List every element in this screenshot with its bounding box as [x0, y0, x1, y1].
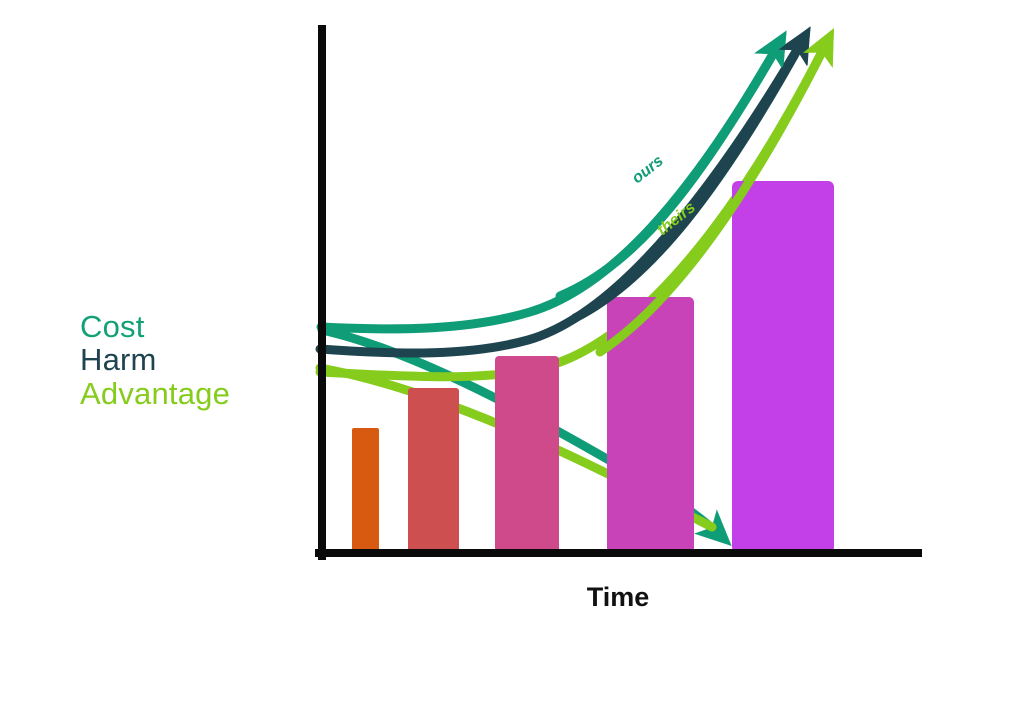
bar-5	[732, 181, 834, 553]
bar-2	[408, 388, 459, 553]
growth-chart-figure: Cost Harm Advantage	[0, 0, 1024, 711]
legend-item-harm: Harm	[80, 342, 157, 377]
curve-annotations: ours theirs	[629, 152, 699, 239]
legend-item-advantage: Advantage	[80, 376, 230, 411]
x-axis-title: Time	[587, 582, 650, 612]
bar-3	[495, 356, 559, 553]
curve-label-ours: ours	[629, 152, 667, 187]
legend: Cost Harm Advantage	[80, 309, 230, 411]
harm-rising-curve	[320, 38, 804, 353]
chart-canvas: Cost Harm Advantage	[0, 0, 1024, 711]
legend-item-cost: Cost	[80, 309, 145, 344]
bar-1	[352, 428, 379, 553]
